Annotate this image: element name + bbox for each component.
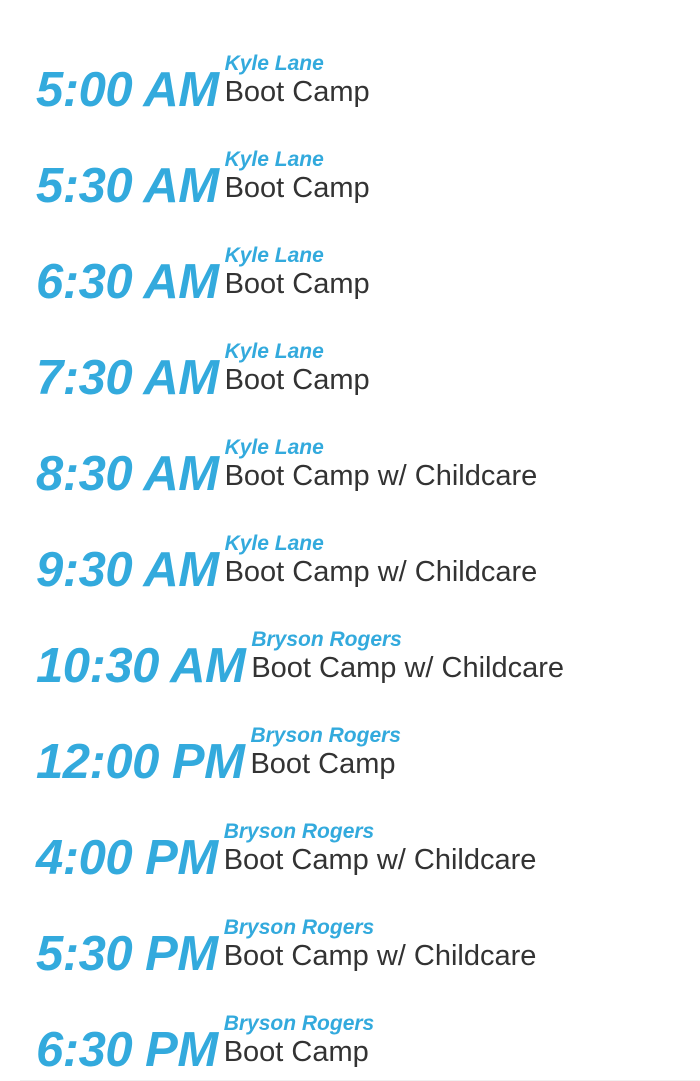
class-instructor: Bryson Rogers (224, 821, 537, 843)
class-details: Bryson RogersBoot Camp w/ Childcare (218, 917, 537, 974)
schedule-row[interactable]: 7:30 AMKyle LaneBoot Camp (0, 302, 700, 398)
class-details: Bryson RogersBoot Camp (244, 725, 401, 782)
class-instructor: Kyle Lane (225, 53, 370, 75)
schedule-row[interactable]: 5:30 AMKyle LaneBoot Camp (0, 110, 700, 206)
schedule-row[interactable]: 5:00 AMKyle LaneBoot Camp (0, 14, 700, 110)
class-time: 5:00 AM (36, 66, 219, 114)
class-instructor: Kyle Lane (225, 437, 538, 459)
schedule-row[interactable]: 8:30 AMKyle LaneBoot Camp w/ Childcare (0, 398, 700, 494)
schedule-row[interactable]: 9:30 AMKyle LaneBoot Camp w/ Childcare (0, 494, 700, 590)
schedule-row[interactable]: 10:30 AMBryson RogersBoot Camp w/ Childc… (0, 590, 700, 686)
class-time: 6:30 AM (36, 258, 219, 306)
class-details: Kyle LaneBoot Camp w/ Childcare (219, 437, 538, 494)
class-name: Boot Camp w/ Childcare (224, 844, 537, 876)
class-time: 12:00 PM (36, 738, 244, 786)
class-name: Boot Camp (224, 1036, 375, 1068)
class-instructor: Bryson Rogers (250, 725, 401, 747)
class-name: Boot Camp (225, 268, 370, 300)
class-time: 8:30 AM (36, 450, 219, 498)
class-name: Boot Camp w/ Childcare (225, 460, 538, 492)
class-instructor: Bryson Rogers (224, 1013, 375, 1035)
schedule-row[interactable]: 4:00 PMBryson RogersBoot Camp w/ Childca… (0, 782, 700, 878)
class-details: Bryson RogersBoot Camp w/ Childcare (245, 629, 564, 686)
class-time: 5:30 PM (36, 930, 218, 978)
class-instructor: Kyle Lane (225, 341, 370, 363)
class-details: Kyle LaneBoot Camp w/ Childcare (219, 533, 538, 590)
class-time: 9:30 AM (36, 546, 219, 594)
class-name: Boot Camp (225, 364, 370, 396)
class-details: Kyle LaneBoot Camp (219, 245, 370, 302)
class-time: 4:00 PM (36, 834, 218, 882)
class-details: Kyle LaneBoot Camp (219, 53, 370, 110)
class-instructor: Bryson Rogers (224, 917, 537, 939)
class-name: Boot Camp (225, 76, 370, 108)
class-instructor: Kyle Lane (225, 245, 370, 267)
class-name: Boot Camp w/ Childcare (224, 940, 537, 972)
schedule-list: 5:00 AMKyle LaneBoot Camp5:30 AMKyle Lan… (0, 0, 700, 1081)
class-time: 5:30 AM (36, 162, 219, 210)
class-details: Bryson RogersBoot Camp w/ Childcare (218, 821, 537, 878)
class-instructor: Kyle Lane (225, 533, 538, 555)
class-instructor: Kyle Lane (225, 149, 370, 171)
class-details: Bryson RogersBoot Camp (218, 1013, 375, 1070)
class-details: Kyle LaneBoot Camp (219, 341, 370, 398)
schedule-row[interactable]: 6:30 PMBryson RogersBoot Camp (0, 974, 700, 1070)
class-name: Boot Camp (250, 748, 401, 780)
class-time: 6:30 PM (36, 1026, 218, 1074)
class-instructor: Bryson Rogers (251, 629, 564, 651)
class-time: 10:30 AM (36, 642, 245, 690)
schedule-row[interactable]: 12:00 PMBryson RogersBoot Camp (0, 686, 700, 782)
schedule-row[interactable]: 5:30 PMBryson RogersBoot Camp w/ Childca… (0, 878, 700, 974)
class-name: Boot Camp w/ Childcare (225, 556, 538, 588)
class-name: Boot Camp w/ Childcare (251, 652, 564, 684)
schedule-row[interactable]: 6:30 AMKyle LaneBoot Camp (0, 206, 700, 302)
class-details: Kyle LaneBoot Camp (219, 149, 370, 206)
class-time: 7:30 AM (36, 354, 219, 402)
class-name: Boot Camp (225, 172, 370, 204)
